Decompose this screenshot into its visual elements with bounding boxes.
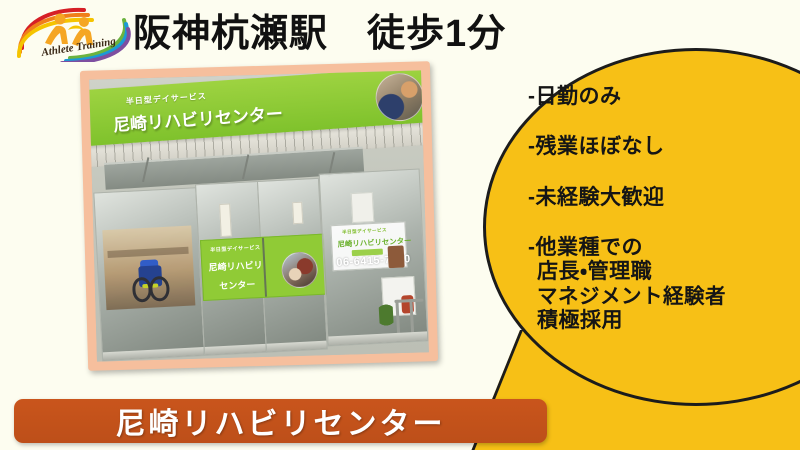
door-poster-1 bbox=[220, 203, 232, 236]
potted-plant bbox=[378, 300, 394, 335]
interior-view bbox=[103, 225, 196, 310]
photo-image: 半日型デイサービス 尼崎リハビリセンター bbox=[89, 70, 429, 361]
benefit-item-1: -日勤のみ bbox=[528, 85, 800, 109]
handrail bbox=[394, 285, 426, 338]
benefit-item-2-line-1: -残業ほぼなし bbox=[528, 135, 800, 159]
window-sill-right bbox=[329, 331, 429, 345]
door-sign-line-2: センター bbox=[219, 277, 256, 292]
door-green-sign: 半日型デイサービス 尼崎リハビリ センター bbox=[200, 234, 327, 301]
door-poster-2 bbox=[293, 201, 304, 224]
door-sign-photo-circle bbox=[281, 250, 319, 288]
storefront-photo: 半日型デイサービス 尼崎リハビリセンター bbox=[80, 61, 438, 371]
glass-panel-left bbox=[94, 187, 206, 361]
benefit-item-4-line-2: 店長・管理職 bbox=[528, 260, 800, 284]
page-title: 阪神杭瀬駅 徒歩1分 bbox=[133, 2, 506, 57]
benefit-item-4-line-4: 積極採用 bbox=[528, 309, 800, 333]
bench bbox=[387, 245, 404, 268]
door-sill-left bbox=[205, 343, 266, 355]
interior-equipment-row bbox=[107, 246, 189, 257]
benefits-list: -日勤のみ -残業ほぼなし -未経験大歓迎 -他業種での 店長・管理職 マネジメ… bbox=[528, 85, 800, 333]
benefit-item-3: -未経験大歓迎 bbox=[528, 186, 800, 210]
green-sign-photo-circle bbox=[374, 71, 425, 122]
door-sign-line-1: 尼崎リハビリ bbox=[209, 258, 264, 274]
wheelchair bbox=[129, 258, 172, 302]
window-sign-subtitle: 半日型デイサービス bbox=[342, 226, 387, 234]
window-notice-top bbox=[351, 192, 374, 222]
glass-panel-right: 半日型デイサービス 尼崎リハビリセンター 06-6415-7370 bbox=[319, 168, 429, 346]
storefront-glass-area: 半日型デイサービス 尼崎リハビリ センター 半日型デイサービス 尼崎リハビリセン… bbox=[93, 168, 427, 361]
benefit-item-4-line-3: マネジメント経験者 bbox=[528, 285, 800, 309]
benefit-item-4: -他業種での 店長・管理職 マネジメント経験者 積極採用 bbox=[528, 236, 800, 333]
benefit-item-4-line-1: -他業種での bbox=[528, 236, 800, 260]
benefit-item-3-line-1: -未経験大歓迎 bbox=[528, 186, 800, 210]
door-sign-subtitle: 半日型デイサービス bbox=[210, 243, 261, 253]
benefit-item-1-line-1: -日勤のみ bbox=[528, 85, 800, 109]
wheelchair-wheel-right bbox=[149, 276, 170, 301]
window-sill-left bbox=[103, 346, 204, 360]
poster-canvas: -日勤のみ -残業ほぼなし -未経験大歓迎 -他業種での 店長・管理職 マネジメ… bbox=[0, 0, 800, 450]
facility-name-banner: 尼崎リハビリセンター bbox=[14, 399, 547, 443]
athlete-training-logo: Athlete Training bbox=[12, 4, 134, 62]
door-sill-right bbox=[267, 340, 328, 352]
facility-name-text: 尼崎リハビリセンター bbox=[116, 399, 446, 443]
door-center-seam bbox=[262, 238, 267, 297]
benefit-item-2: -残業ほぼなし bbox=[528, 135, 800, 159]
